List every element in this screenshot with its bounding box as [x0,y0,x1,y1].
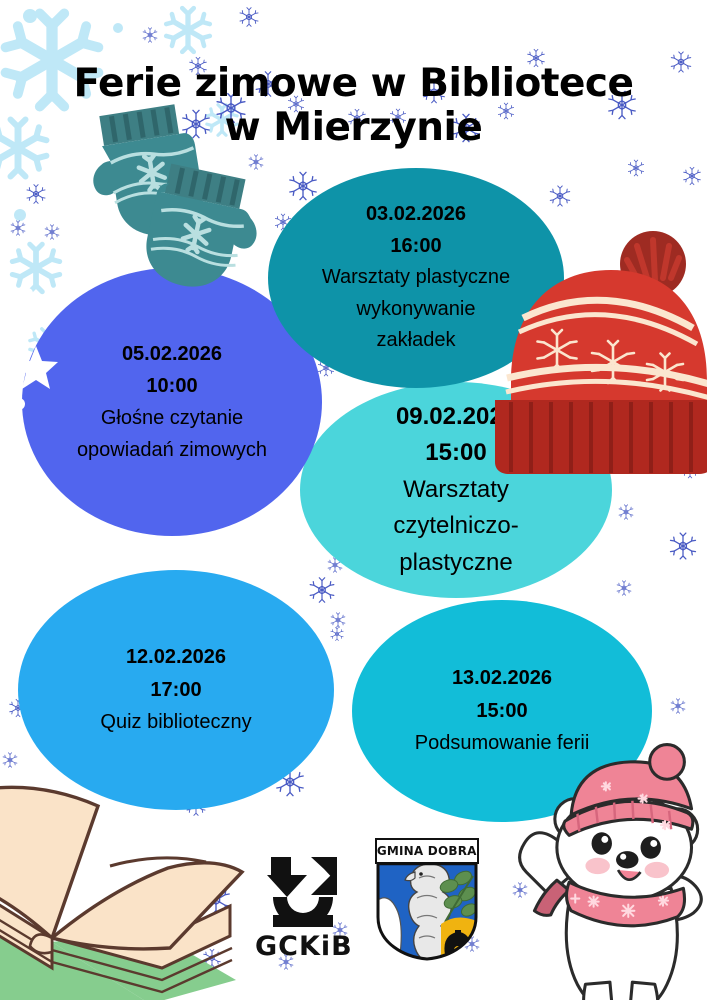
event-time: 15:00 [476,695,527,727]
event-date: 03.02.2026 [366,199,466,231]
event-date: 05.02.2026 [122,338,222,370]
event-description-line: plastyczne [399,545,512,581]
event-circle-13-02[interactable]: 13.02.2026 15:00 Podsumowanie ferii [352,600,652,822]
event-time: 17:00 [150,674,201,706]
event-description-line: Warsztaty [403,472,509,508]
title-line-2: w Mierzynie [0,106,707,150]
title-line-1: Ferie zimowe w Bibliotece [73,61,633,106]
event-description-line: Podsumowanie ferii [415,727,590,759]
event-date: 09.02.2026 [396,399,516,435]
event-description-line: Głośne czytanie [101,402,243,434]
event-description-line: czytelniczo- [393,508,518,544]
winter-holidays-poster: Ferie zimowe w Bibliotece w Mierzynie 03… [0,0,707,1000]
event-circle-12-02[interactable]: 12.02.2026 17:00 Quiz biblioteczny [18,570,334,810]
event-time: 16:00 [390,231,441,263]
event-circle-03-02[interactable]: 03.02.2026 16:00 Warsztaty plastyczne wy… [268,168,564,388]
event-description-line: Warsztaty plastyczne [322,262,510,294]
gckib-mark-icon [267,853,341,929]
event-time: 10:00 [146,370,197,402]
gckib-label: GCKiB [255,931,353,962]
logo-row: GCKiB GMINA DOBRA [255,838,479,962]
open-book-icon [0,787,242,1000]
crest-label: GMINA DOBRA [375,838,479,864]
poster-title: Ferie zimowe w Bibliotece w Mierzynie [0,62,707,149]
event-description-line: Quiz biblioteczny [100,706,251,738]
hat-pompom [620,231,686,297]
event-date: 12.02.2026 [126,641,226,673]
event-circle-09-02[interactable]: 09.02.2026 15:00 Warsztaty czytelniczo- … [300,382,612,598]
event-time: 15:00 [425,435,486,471]
event-description-line: zakładek [377,325,456,357]
gmina-dobra-crest[interactable]: GMINA DOBRA [375,838,479,962]
event-description-line: opowiadań zimowych [77,434,267,466]
gckib-logo[interactable]: GCKiB [255,853,353,962]
event-date: 13.02.2026 [452,662,552,694]
event-description-line: wykonywanie [357,294,476,326]
